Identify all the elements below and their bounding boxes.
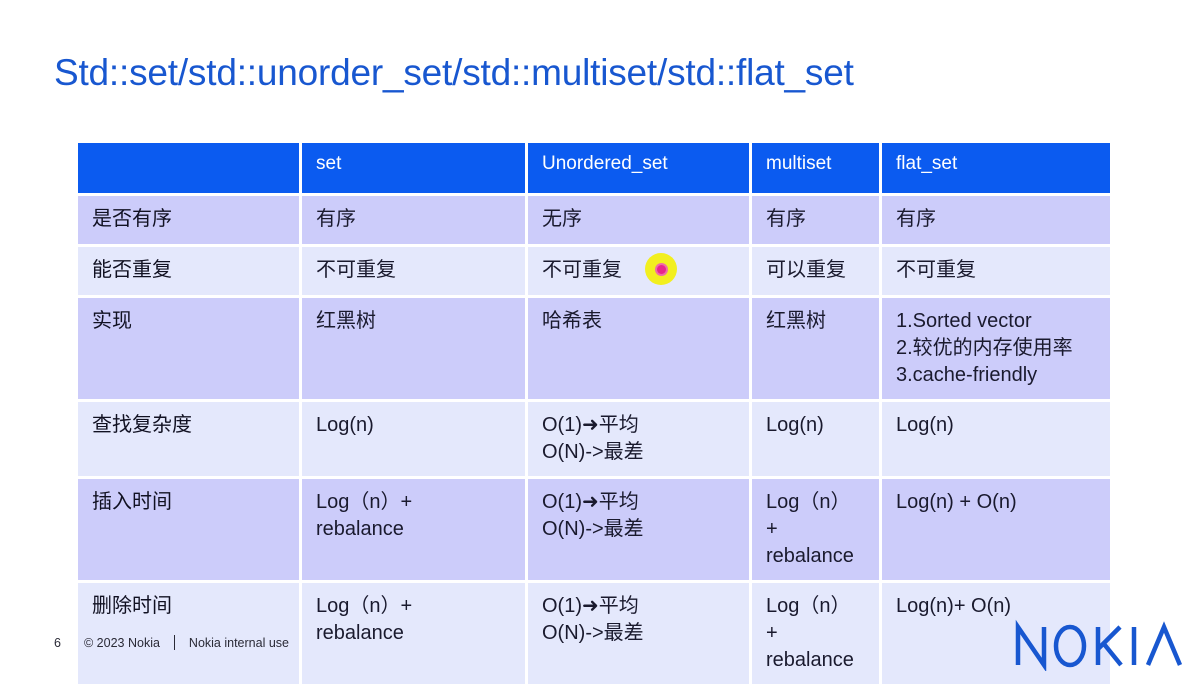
- cell-line: 无序: [542, 206, 737, 233]
- table-body: 是否有序 有序 无序 有序 有序 能否重复 不可重复 不可重复 可以重复 不可重…: [78, 196, 1110, 687]
- cell-line: +: [766, 620, 867, 647]
- cell-line: Log（n）+: [316, 489, 513, 516]
- column-header-unordered-set: Unordered_set: [528, 143, 752, 196]
- row-label-ordered: 是否有序: [78, 196, 302, 247]
- column-header-set: set: [302, 143, 528, 196]
- cell-lookup-multiset: Log(n): [752, 402, 882, 479]
- cell-line: 哈希表: [542, 308, 737, 335]
- page-title: Std::set/std::unorder_set/std::multiset/…: [54, 50, 854, 96]
- row-label-duplicates: 能否重复: [78, 247, 302, 298]
- cell-insert-flat-set: Log(n) + O(n): [882, 479, 1110, 583]
- table-header-row: set Unordered_set multiset flat_set: [78, 143, 1110, 196]
- row-label-insert-time: 插入时间: [78, 479, 302, 583]
- cell-implementation-unordered-set: 哈希表: [528, 298, 752, 402]
- cell-line: 可以重复: [766, 257, 867, 284]
- cell-insert-multiset: Log（n） + rebalance: [752, 479, 882, 583]
- cell-duplicates-set: 不可重复: [302, 247, 528, 298]
- cell-line: Log（n）+: [316, 593, 513, 620]
- table-row: 实现 红黑树 哈希表 红黑树 1.Sorted vector 2.较优的内存使用…: [78, 298, 1110, 402]
- nokia-logo-icon: [1014, 619, 1182, 671]
- cell-line: +: [766, 516, 867, 543]
- cell-ordered-multiset: 有序: [752, 196, 882, 247]
- cell-ordered-flat-set: 有序: [882, 196, 1110, 247]
- cell-line: Log(n): [316, 412, 513, 439]
- cell-line: O(N)->最差: [542, 516, 737, 543]
- cell-line: 不可重复: [896, 257, 1098, 284]
- column-header-multiset: multiset: [752, 143, 882, 196]
- table-row: 查找复杂度 Log(n) O(1)➜平均 O(N)->最差 Log(n) Log…: [78, 402, 1110, 479]
- cell-line: Log(n): [896, 412, 1098, 439]
- classification-text: Nokia internal use: [189, 636, 289, 650]
- cell-line: 有序: [766, 206, 867, 233]
- cell-ordered-set: 有序: [302, 196, 528, 247]
- cell-implementation-flat-set: 1.Sorted vector 2.较优的内存使用率 3.cache-frien…: [882, 298, 1110, 402]
- cell-line: rebalance: [766, 647, 867, 674]
- cell-line: rebalance: [766, 543, 867, 570]
- page-number: 6: [54, 636, 84, 650]
- column-header-flat-set: flat_set: [882, 143, 1110, 196]
- table-header: set Unordered_set multiset flat_set: [78, 143, 1110, 196]
- cell-line: O(1)➜平均: [542, 593, 737, 620]
- cell-line: 有序: [316, 206, 513, 233]
- row-label-lookup-complexity: 查找复杂度: [78, 402, 302, 479]
- cell-line: 1.Sorted vector: [896, 308, 1098, 335]
- slide-canvas: Std::set/std::unorder_set/std::multiset/…: [0, 0, 1200, 654]
- cell-line: rebalance: [316, 516, 513, 543]
- cell-line: 2.较优的内存使用率: [896, 335, 1098, 362]
- cell-insert-set: Log（n）+ rebalance: [302, 479, 528, 583]
- cell-implementation-multiset: 红黑树: [752, 298, 882, 402]
- table-row: 是否有序 有序 无序 有序 有序: [78, 196, 1110, 247]
- cell-duplicates-multiset: 可以重复: [752, 247, 882, 298]
- column-header-blank: [78, 143, 302, 196]
- cell-line: 红黑树: [766, 308, 867, 335]
- cell-line: 3.cache-friendly: [896, 362, 1098, 389]
- cell-line: 红黑树: [316, 308, 513, 335]
- cell-delete-multiset: Log（n） + rebalance: [752, 583, 882, 687]
- table-row: 能否重复 不可重复 不可重复 可以重复 不可重复: [78, 247, 1110, 298]
- cell-ordered-unordered-set: 无序: [528, 196, 752, 247]
- cell-lookup-unordered-set: O(1)➜平均 O(N)->最差: [528, 402, 752, 479]
- cell-line: O(N)->最差: [542, 439, 737, 466]
- comparison-table: set Unordered_set multiset flat_set 是否有序…: [78, 143, 1110, 687]
- cell-line: Log(n) + O(n): [896, 489, 1098, 516]
- cell-line: Log(n)+ O(n): [896, 593, 1098, 620]
- cell-duplicates-flat-set: 不可重复: [882, 247, 1110, 298]
- cell-line: O(1)➜平均: [542, 489, 737, 516]
- cell-duplicates-unordered-set: 不可重复: [528, 247, 752, 298]
- cell-line: 有序: [896, 206, 1098, 233]
- row-label-implementation: 实现: [78, 298, 302, 402]
- cell-lookup-flat-set: Log(n): [882, 402, 1110, 479]
- cell-line: rebalance: [316, 620, 513, 647]
- cell-line: 不可重复: [316, 257, 513, 284]
- cell-line: Log（n）: [766, 489, 867, 516]
- cell-line: Log（n）: [766, 593, 867, 620]
- cell-implementation-set: 红黑树: [302, 298, 528, 402]
- cell-delete-set: Log（n）+ rebalance: [302, 583, 528, 687]
- cell-line: O(1)➜平均: [542, 412, 737, 439]
- cell-line: 不可重复: [542, 257, 737, 284]
- copyright-text: © 2023 Nokia: [84, 636, 160, 650]
- cell-line: Log(n): [766, 412, 867, 439]
- table-row: 插入时间 Log（n）+ rebalance O(1)➜平均 O(N)->最差 …: [78, 479, 1110, 583]
- slide-footer: 6 © 2023 Nokia Nokia internal use: [54, 635, 289, 650]
- cell-insert-unordered-set: O(1)➜平均 O(N)->最差: [528, 479, 752, 583]
- footer-divider: [174, 635, 175, 650]
- cell-delete-unordered-set: O(1)➜平均 O(N)->最差: [528, 583, 752, 687]
- cell-line: O(N)->最差: [542, 620, 737, 647]
- cell-lookup-set: Log(n): [302, 402, 528, 479]
